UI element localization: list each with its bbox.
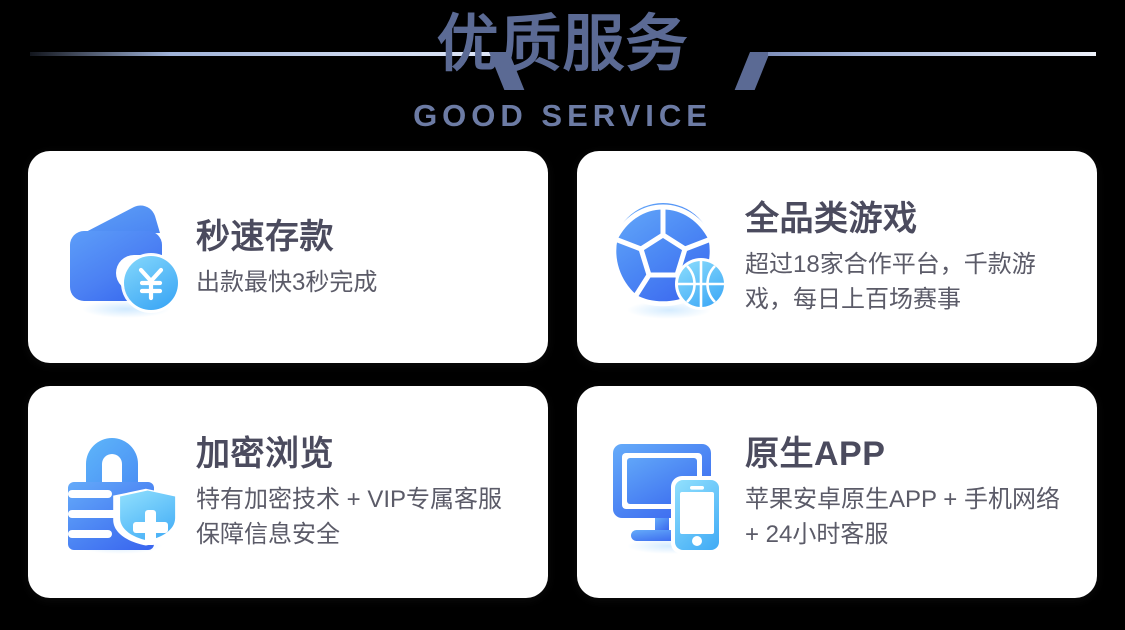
- lock-shield-icon: [54, 424, 190, 560]
- feature-card-app[interactable]: 原生APP 苹果安卓原生APP + 手机网络 + 24小时客服: [577, 386, 1097, 598]
- feature-card-desc: 特有加密技术 + VIP专属客服保障信息安全: [196, 482, 526, 552]
- feature-card-text: 全品类游戏 超过18家合作平台，千款游戏，每日上百场赛事: [739, 197, 1079, 317]
- feature-card-title: 全品类游戏: [745, 197, 1079, 241]
- monitor-phone-icon: [603, 424, 739, 560]
- wallet-icon: [54, 189, 190, 325]
- feature-card-games[interactable]: 全品类游戏 超过18家合作平台，千款游戏，每日上百场赛事: [577, 151, 1097, 363]
- feature-card-desc: 超过18家合作平台，千款游戏，每日上百场赛事: [745, 247, 1075, 317]
- feature-card-deposit[interactable]: 秒速存款 出款最快3秒完成: [28, 151, 548, 363]
- page-title: 优质服务: [0, 5, 1125, 85]
- feature-card-title: 原生APP: [745, 432, 1079, 476]
- feature-card-text: 加密浏览 特有加密技术 + VIP专属客服保障信息安全: [190, 432, 530, 552]
- feature-card-security[interactable]: 加密浏览 特有加密技术 + VIP专属客服保障信息安全: [28, 386, 548, 598]
- soccer-ball-icon: [603, 189, 739, 325]
- page-header: 优质服务 GOOD SERVICE: [0, 0, 1125, 145]
- feature-card-text: 秒速存款 出款最快3秒完成: [190, 215, 530, 300]
- feature-card-desc: 出款最快3秒完成: [196, 265, 530, 300]
- feature-card-text: 原生APP 苹果安卓原生APP + 手机网络 + 24小时客服: [739, 432, 1079, 552]
- feature-card-grid: 秒速存款 出款最快3秒完成: [28, 151, 1097, 598]
- page-subtitle: GOOD SERVICE: [0, 97, 1125, 135]
- feature-card-title: 秒速存款: [196, 215, 530, 259]
- feature-card-desc: 苹果安卓原生APP + 手机网络 + 24小时客服: [745, 482, 1075, 552]
- feature-card-title: 加密浏览: [196, 432, 530, 476]
